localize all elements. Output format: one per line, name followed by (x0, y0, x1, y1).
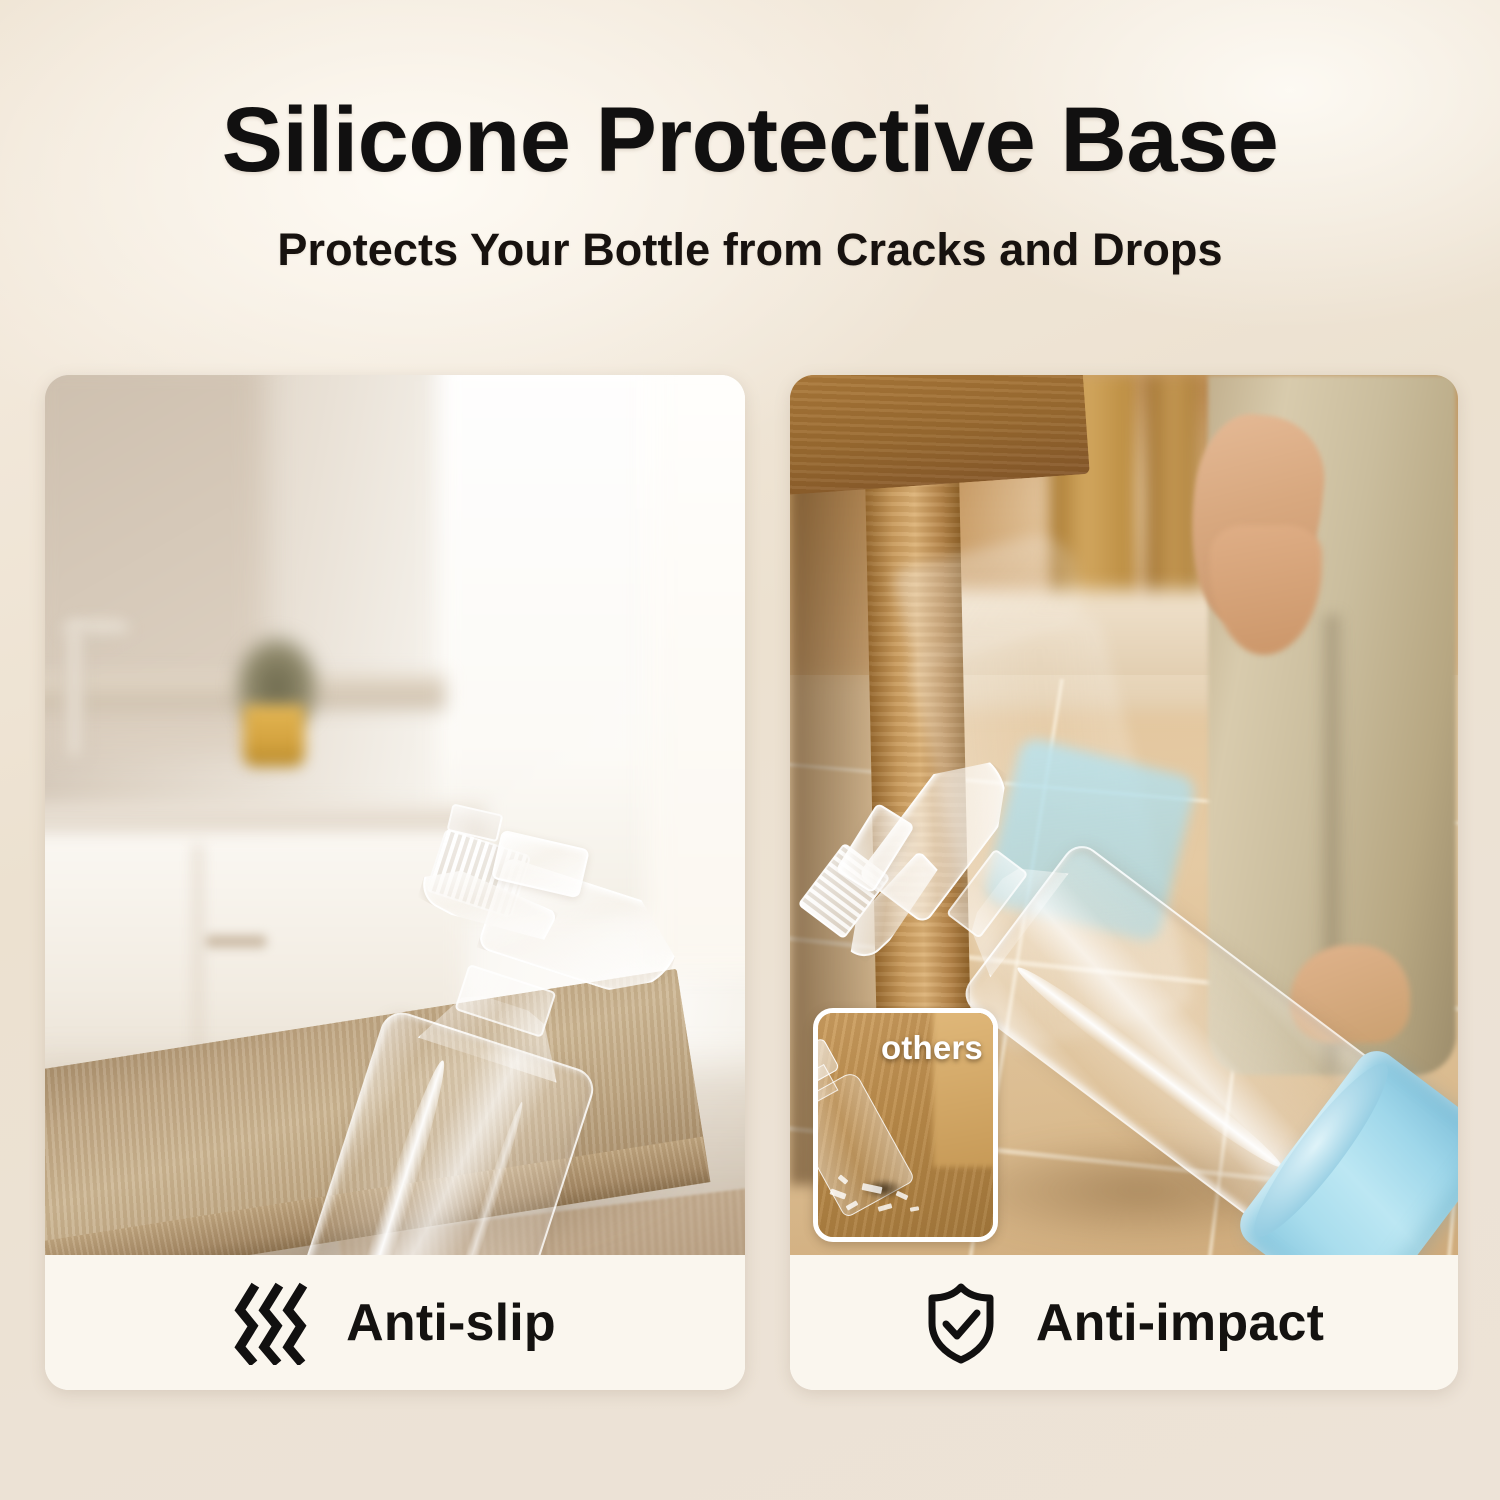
page-title: Silicone Protective Base (0, 88, 1500, 193)
glass-shard (861, 1183, 882, 1194)
photo-anti-impact: others (790, 375, 1458, 1255)
caption-bar-anti-slip: Anti-slip (45, 1255, 745, 1390)
product-infographic: Silicone Protective Base Protects Your B… (0, 0, 1500, 1500)
glass-shard (846, 1200, 859, 1210)
photo-anti-slip (45, 375, 745, 1255)
glass-shard (878, 1203, 893, 1212)
caption-label: Anti-slip (346, 1293, 556, 1353)
shield-check-icon (924, 1281, 998, 1365)
plant-pot (243, 705, 305, 767)
zigzag-waves-icon (234, 1281, 308, 1365)
page-subtitle: Protects Your Bottle from Cracks and Dro… (0, 224, 1500, 276)
feature-card-anti-slip: Anti-slip (45, 375, 745, 1390)
glass-shard (896, 1191, 909, 1201)
feature-card-anti-impact: others Anti-impact (790, 375, 1458, 1390)
others-comparison-inset: others (813, 1008, 998, 1242)
faucet (63, 625, 85, 755)
glass-shard (910, 1206, 920, 1212)
tile-floor-background: others (790, 375, 1458, 1255)
cabinet-handle (205, 935, 267, 948)
caption-label: Anti-impact (1036, 1293, 1324, 1353)
glass-shard (838, 1174, 849, 1184)
inset-label-others: others (881, 1029, 983, 1067)
caption-bar-anti-impact: Anti-impact (790, 1255, 1458, 1390)
glass-shard (829, 1188, 846, 1199)
glass-shards (824, 1163, 944, 1223)
